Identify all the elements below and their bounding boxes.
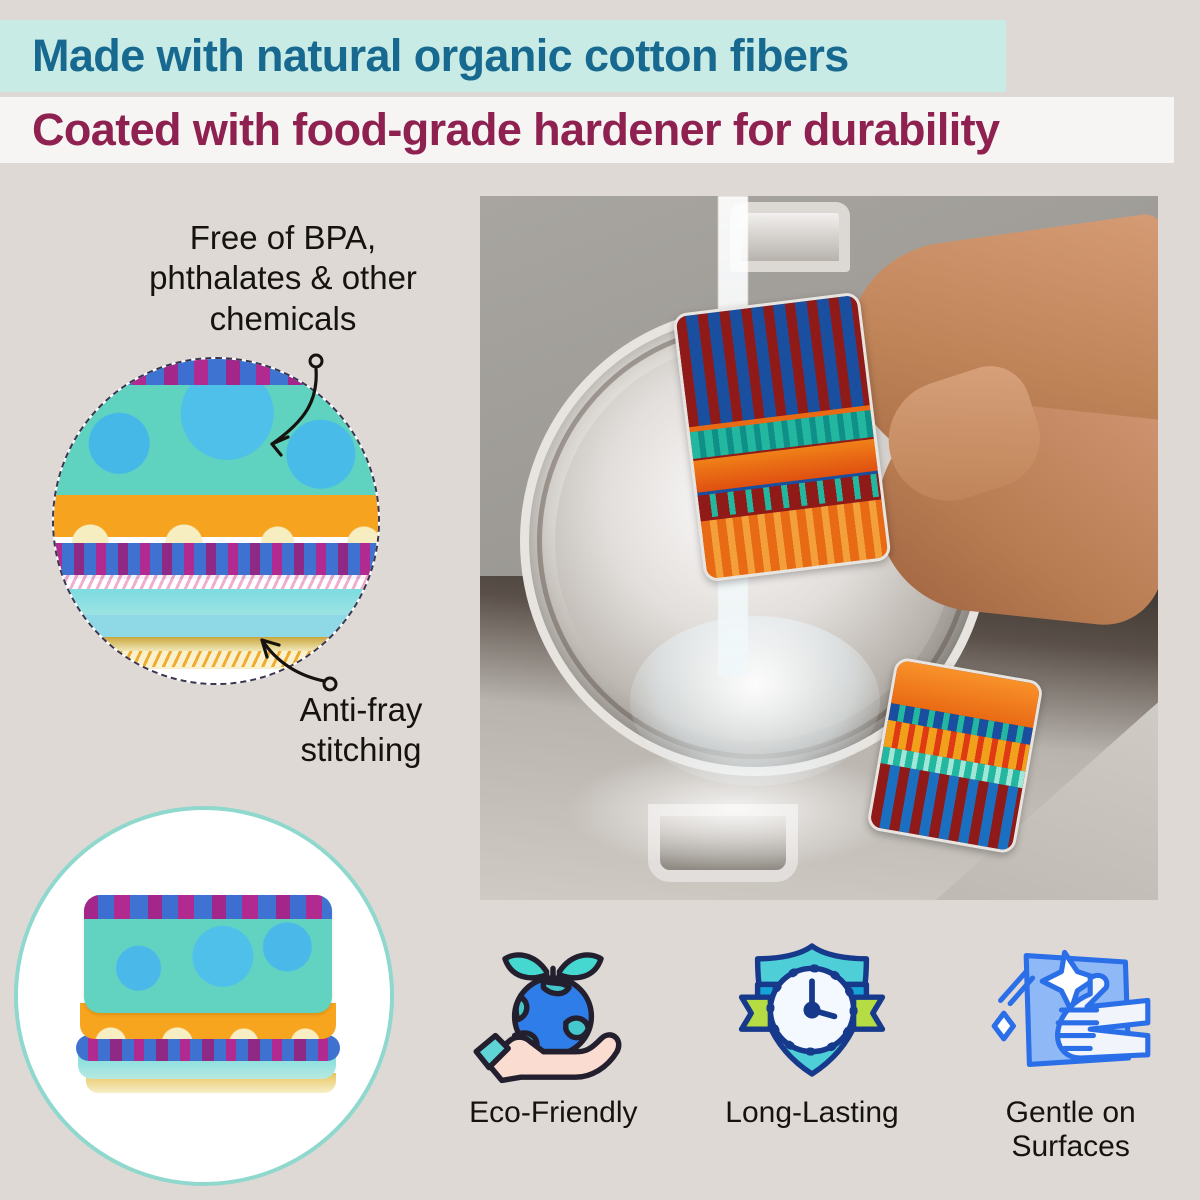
macro-detail-circle-image bbox=[52, 357, 380, 685]
pad-top-purple-border bbox=[84, 895, 332, 919]
headline-banner-secondary: Coated with food-grade hardener for dura… bbox=[0, 97, 1174, 163]
product-photo-circle bbox=[14, 806, 394, 1186]
earth-in-hand-icon bbox=[473, 930, 633, 1090]
feature-gentle-on-surfaces: Gentle on Surfaces bbox=[941, 930, 1200, 1164]
scrubber-pad-stack bbox=[76, 895, 340, 1075]
photo-pot-handle-top bbox=[730, 202, 850, 272]
feature-gentle-line-1: Gentle on bbox=[1006, 1096, 1136, 1129]
infographic-page: Made with natural organic cotton fibers … bbox=[0, 0, 1200, 1200]
shield-clock-icon bbox=[732, 930, 892, 1090]
feature-gentle-line-2: Surfaces bbox=[1011, 1130, 1129, 1163]
macro-band-stitching-gold bbox=[52, 651, 380, 667]
macro-band-stitching-pink bbox=[52, 575, 380, 589]
feature-eco-friendly-label: Eco-Friendly bbox=[469, 1096, 637, 1130]
headline-banner-primary: Made with natural organic cotton fibers bbox=[0, 20, 1006, 92]
headline-primary-text: Made with natural organic cotton fibers bbox=[0, 30, 849, 82]
macro-band-stripe-purple-blue bbox=[52, 543, 380, 579]
headline-secondary-text: Coated with food-grade hardener for dura… bbox=[0, 104, 999, 156]
feature-long-lasting-label: Long-Lasting bbox=[725, 1096, 898, 1130]
callout-bpa-line-1: Free of BPA, bbox=[100, 218, 466, 258]
hero-photo-washing-pot bbox=[480, 196, 1158, 900]
feature-long-lasting: Long-Lasting bbox=[683, 930, 942, 1130]
photo-water-pool bbox=[570, 750, 900, 870]
pad-layer-top-floral bbox=[84, 895, 332, 1013]
scrubber-vertical-stripes bbox=[676, 295, 870, 427]
callout-bpa-line-3: chemicals bbox=[100, 299, 466, 339]
macro-band-white-base bbox=[52, 669, 380, 685]
photo-scrubber-in-hand bbox=[672, 292, 892, 583]
callout-antifray-line-1: Anti-fray bbox=[248, 690, 474, 730]
macro-band-cream-scallop bbox=[52, 521, 380, 543]
photo-scrubber-on-counter bbox=[866, 656, 1044, 854]
callout-bpa-line-2: phthalates & other bbox=[100, 258, 466, 298]
callout-antifray-line-2: stitching bbox=[248, 730, 474, 770]
hand-wiping-cloth-icon bbox=[991, 930, 1151, 1090]
callout-label-bpa-free: Free of BPA, phthalates & other chemical… bbox=[100, 218, 466, 339]
feature-eco-friendly: Eco-Friendly bbox=[424, 930, 683, 1130]
feature-gentle-on-surfaces-label: Gentle on Surfaces bbox=[1006, 1096, 1136, 1164]
callout-label-anti-fray: Anti-fray stitching bbox=[248, 690, 474, 771]
feature-benefits-row: Eco-Friendly Long-Lasting bbox=[424, 930, 1200, 1200]
pad-orange-scallop bbox=[80, 1025, 336, 1039]
macro-band-purple-top bbox=[52, 359, 380, 385]
